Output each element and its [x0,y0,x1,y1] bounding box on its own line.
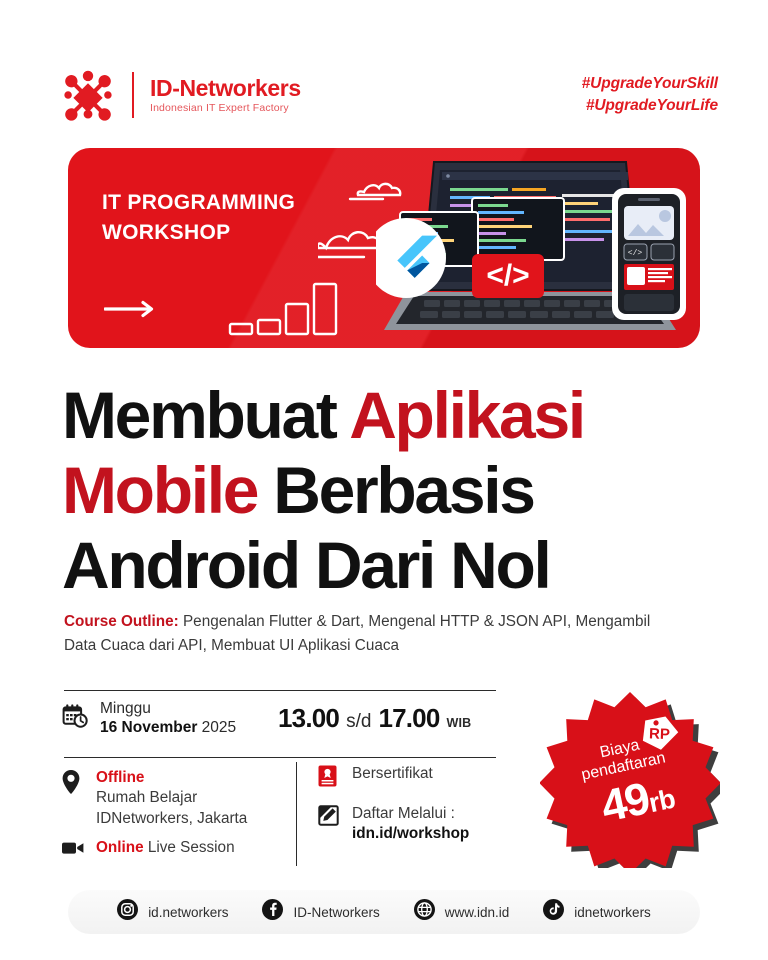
headline-line-1: Membuat Aplikasi [62,378,718,453]
hashtag-block: #UpgradeYourSkill #UpgradeYourLife [582,73,718,117]
location-venue-line-2: IDNetworkers, Jakarta [96,809,247,829]
course-outline: Course Outline: Pengenalan Flutter & Dar… [64,610,658,657]
social-item-facebook[interactable]: ID-Networkers [262,899,379,925]
social-footer: id.networkers ID-Networkers www.idn. [68,890,700,934]
right-arrow-icon [104,300,158,323]
registration-text: Daftar Melalui : idn.id/workshop [352,804,469,845]
course-outline-label: Course Outline: [64,613,179,630]
headline-line-1-black: Membuat [62,378,349,452]
location-offline-label: Offline [96,768,247,788]
instagram-icon [117,899,138,925]
social-label-website: www.idn.id [445,905,510,920]
facebook-icon [262,899,283,925]
brand-text: ID-Networkers Indonesian IT Expert Facto… [150,76,301,114]
time-start: 13.00 [278,703,339,734]
social-item-website[interactable]: www.idn.id [414,899,510,925]
location-column: Offline Rumah Belajar IDNetworkers, Jaka… [62,768,290,870]
idn-x-people-logo-icon [62,69,114,121]
price-badge: Biaya pendaftaran 49rb RP [540,688,720,868]
banner-title: IT PROGRAMMING WORKSHOP [102,188,295,248]
location-online: Online Live Session [62,838,290,861]
tiktok-icon [543,899,564,925]
time-timezone: WIB [447,716,472,730]
headline-line-2-red: Mobile [62,453,257,527]
registration-column: Bersertifikat Daftar Melalui : idn.id/wo… [318,764,548,857]
headline-line-2: Mobile Berbasis [62,453,718,528]
banner-title-line-1: IT PROGRAMMING [102,188,295,218]
schedule-date-full: 16 November 2025 [100,719,236,738]
edit-square-icon [318,804,340,845]
social-label-facebook: ID-Networkers [293,905,379,920]
location-offline: Offline Rumah Belajar IDNetworkers, Jaka… [62,768,290,829]
workshop-banner: IT PROGRAMMING WORKSHOP [68,148,700,348]
social-item-instagram[interactable]: id.networkers [117,899,228,925]
detail-divider-mid [64,757,496,758]
brand-lockup: ID-Networkers Indonesian IT Expert Facto… [62,69,301,121]
banner-title-line-2: WORKSHOP [102,218,295,248]
time-separator: s/d [346,711,371,733]
brand-tagline: Indonesian IT Expert Factory [150,102,301,114]
schedule-time: 13.00 s/d 17.00 WIB [278,703,471,734]
schedule-date-bold: 16 November [100,719,197,736]
registration-label: Daftar Melalui : [352,804,469,824]
schedule-day: Minggu [100,700,236,719]
svg-text:</>: </> [486,259,529,292]
registration-link[interactable]: Daftar Melalui : idn.id/workshop [318,804,548,845]
hashtag-line-2: #UpgradeYourLife [582,95,718,117]
location-online-detail: Live Session [144,839,235,856]
social-item-tiktok[interactable]: idnetworkers [543,899,651,925]
time-end: 17.00 [378,703,439,734]
calendar-clock-icon [62,703,88,734]
certificate-label: Bersertifikat [352,764,433,792]
globe-website-icon [414,899,435,925]
location-venue-line-1: Rumah Belajar [96,788,247,808]
certificate-icon [318,764,340,792]
location-online-text: Online Live Session [96,838,235,861]
schedule-date: Minggu 16 November 2025 [62,700,236,738]
registration-certificate: Bersertifikat [318,764,548,792]
page-title: Membuat Aplikasi Mobile Berbasis Android… [62,378,718,604]
starburst-shape [540,688,720,868]
svg-text:</>: </> [628,249,643,258]
brand-divider [132,72,134,118]
social-label-tiktok: idnetworkers [574,905,651,920]
location-offline-text: Offline Rumah Belajar IDNetworkers, Jaka… [96,768,247,829]
poster-header: ID-Networkers Indonesian IT Expert Facto… [62,60,718,130]
detail-divider-vertical [296,762,297,866]
headline-line-2-black: Berbasis [257,453,533,527]
bar-chart-icon [228,276,346,343]
poster-root: ID-Networkers Indonesian IT Expert Facto… [0,0,768,960]
map-pin-icon [62,768,84,829]
detail-divider-top [64,690,496,691]
price-tag-text: RP [649,725,670,743]
video-camera-icon [62,838,84,861]
hashtag-line-1: #UpgradeYourSkill [582,73,718,95]
registration-url[interactable]: idn.id/workshop [352,824,469,844]
date-text-block: Minggu 16 November 2025 [100,700,236,738]
headline-line-1-red: Aplikasi [349,378,584,452]
social-label-instagram: id.networkers [148,905,228,920]
headline-line-3: Android Dari Nol [62,528,718,603]
schedule-date-year: 2025 [197,719,236,736]
location-online-label: Online [96,839,144,856]
brand-name: ID-Networkers [150,76,301,100]
laptop-phone-code-illustration: </> </> [376,154,700,348]
